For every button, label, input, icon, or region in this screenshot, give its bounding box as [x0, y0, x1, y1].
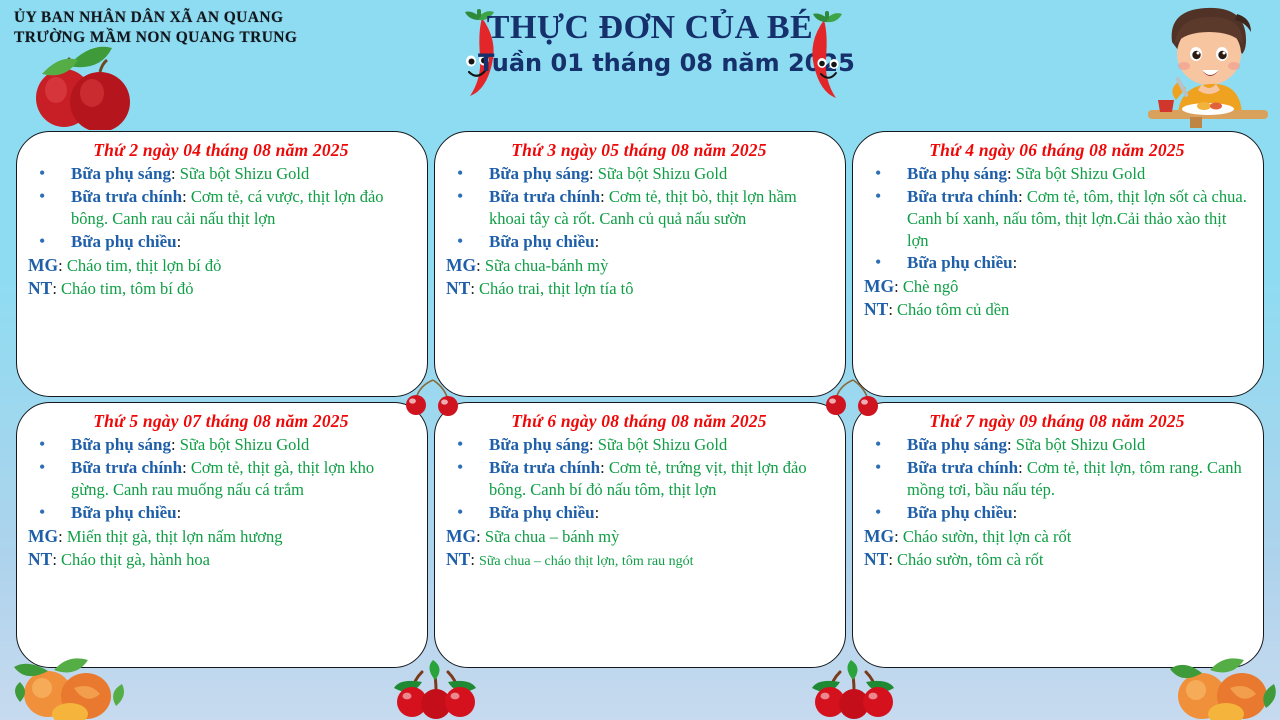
snack-value-mg: Miến thịt gà, thịt lợn nấm hương [67, 527, 283, 546]
day-card-monday[interactable]: Thứ 2 ngày 04 tháng 08 năm 2025 Bữa phụ … [16, 131, 428, 397]
meal-label-afternoon: Bữa phụ chiều [489, 232, 595, 251]
snack-value-mg: Cháo sườn, thịt lợn cà rốt [903, 527, 1071, 546]
snack-row-nt: NT: Cháo trai, thịt lợn tía tô [446, 277, 833, 300]
snack-row-nt: NT: Cháo sườn, tôm cà rốt [864, 548, 1251, 571]
menu-grid: Thứ 2 ngày 04 tháng 08 năm 2025 Bữa phụ … [16, 131, 1264, 668]
meal-afternoon: Bữa phụ chiều: [451, 502, 833, 524]
snack-key-mg: MG [446, 255, 476, 275]
snack-key-mg: MG [864, 526, 894, 546]
day-card-thursday[interactable]: Thứ 5 ngày 07 tháng 08 năm 2025 Bữa phụ … [16, 402, 428, 668]
snack-row-mg: MG: Cháo sườn, thịt lợn cà rốt [864, 525, 1251, 548]
snack-value-nt: Cháo tim, tôm bí đỏ [61, 279, 193, 298]
meal-value-breakfast: Sữa bột Shizu Gold [180, 435, 310, 454]
snack-value-nt: Cháo tôm củ dền [897, 300, 1009, 319]
day-heading: Thứ 5 ngày 07 tháng 08 năm 2025 [27, 411, 415, 432]
meal-afternoon: Bữa phụ chiều: [451, 231, 833, 253]
snack-key-mg: MG [28, 255, 58, 275]
org-line-1: ỦY BAN NHÂN DÂN XÃ AN QUANG [14, 8, 297, 28]
meal-breakfast: Bữa phụ sáng: Sữa bột Shizu Gold [451, 434, 833, 456]
snack-row-mg: MG: Chè ngô [864, 275, 1251, 298]
meal-label-lunch: Bữa trưa chính [71, 187, 182, 206]
snack-row-mg: MG: Cháo tim, thịt lợn bí đỏ [28, 254, 415, 277]
snack-key-nt: NT [28, 549, 52, 569]
meal-label-afternoon: Bữa phụ chiều [489, 503, 595, 522]
day-card-wednesday[interactable]: Thứ 4 ngày 06 tháng 08 năm 2025 Bữa phụ … [852, 131, 1264, 397]
meal-label-breakfast: Bữa phụ sáng [71, 164, 171, 183]
meal-afternoon: Bữa phụ chiều: [33, 231, 415, 253]
snack-key-nt: NT [864, 299, 888, 319]
meal-list: Bữa phụ sáng: Sữa bột Shizu Gold Bữa trư… [33, 163, 415, 253]
meal-label-breakfast: Bữa phụ sáng [489, 435, 589, 454]
meal-label-lunch: Bữa trưa chính [489, 458, 600, 477]
meal-label-lunch: Bữa trưa chính [907, 458, 1018, 477]
snack-rows: MG: Miến thịt gà, thịt lợn nấm hương NT:… [27, 525, 415, 571]
meal-value-breakfast: Sữa bột Shizu Gold [1016, 435, 1146, 454]
snack-rows: MG: Sữa chua – bánh mỳ NT: Sữa chua – ch… [445, 525, 833, 572]
snack-rows: MG: Sữa chua-bánh mỳ NT: Cháo trai, thịt… [445, 254, 833, 300]
snack-value-nt: Cháo trai, thịt lợn tía tô [479, 279, 633, 298]
meal-afternoon: Bữa phụ chiều: [33, 502, 415, 524]
meal-value-breakfast: Sữa bột Shizu Gold [1016, 164, 1146, 183]
day-card-tuesday[interactable]: Thứ 3 ngày 05 tháng 08 năm 2025 Bữa phụ … [434, 131, 846, 397]
page-title: THỰC ĐƠN CỦA BÉ [478, 10, 822, 46]
meal-label-afternoon: Bữa phụ chiều [907, 253, 1013, 272]
title-block: THỰC ĐƠN CỦA BÉ Tuần 01 tháng 08 năm 202… [478, 10, 822, 77]
snack-key-mg: MG [446, 526, 476, 546]
meal-breakfast: Bữa phụ sáng: Sữa bột Shizu Gold [33, 163, 415, 185]
snack-value-mg: Sữa chua – bánh mỳ [485, 527, 620, 546]
meal-value-breakfast: Sữa bột Shizu Gold [180, 164, 310, 183]
meal-list: Bữa phụ sáng: Sữa bột Shizu Gold Bữa trư… [33, 434, 415, 524]
snack-value-nt: Sữa chua – cháo thịt lợn, tôm rau ngót [479, 554, 693, 569]
meal-label-breakfast: Bữa phụ sáng [489, 164, 589, 183]
meal-lunch: Bữa trưa chính: Cơm tẻ, thịt lợn, tôm ra… [869, 457, 1251, 501]
meal-label-lunch: Bữa trưa chính [71, 458, 182, 477]
day-heading: Thứ 7 ngày 09 tháng 08 năm 2025 [863, 411, 1251, 432]
meal-label-afternoon: Bữa phụ chiều [907, 503, 1013, 522]
page-subtitle: Tuần 01 tháng 08 năm 2025 [478, 49, 822, 78]
snack-value-mg: Sữa chua-bánh mỳ [485, 256, 609, 275]
snack-value-mg: Cháo tim, thịt lợn bí đỏ [67, 256, 221, 275]
day-heading: Thứ 3 ngày 05 tháng 08 năm 2025 [445, 140, 833, 161]
day-card-saturday[interactable]: Thứ 7 ngày 09 tháng 08 năm 2025 Bữa phụ … [852, 402, 1264, 668]
meal-list: Bữa phụ sáng: Sữa bột Shizu Gold Bữa trư… [451, 434, 833, 524]
meal-label-afternoon: Bữa phụ chiều [71, 503, 177, 522]
meal-list: Bữa phụ sáng: Sữa bột Shizu Gold Bữa trư… [869, 163, 1251, 274]
snack-key-nt: NT [28, 278, 52, 298]
meal-list: Bữa phụ sáng: Sữa bột Shizu Gold Bữa trư… [869, 434, 1251, 524]
day-heading: Thứ 2 ngày 04 tháng 08 năm 2025 [27, 140, 415, 161]
meal-afternoon: Bữa phụ chiều: [869, 252, 1251, 274]
meal-lunch: Bữa trưa chính: Cơm tẻ, tôm, thịt lợn số… [869, 186, 1251, 251]
snack-value-mg: Chè ngô [903, 277, 958, 296]
meal-list: Bữa phụ sáng: Sữa bột Shizu Gold Bữa trư… [451, 163, 833, 253]
meal-lunch: Bữa trưa chính: Cơm tẻ, thịt gà, thịt lợ… [33, 457, 415, 501]
meal-label-lunch: Bữa trưa chính [907, 187, 1018, 206]
day-heading: Thứ 4 ngày 06 tháng 08 năm 2025 [863, 140, 1251, 161]
day-card-friday[interactable]: Thứ 6 ngày 08 tháng 08 năm 2025 Bữa phụ … [434, 402, 846, 668]
snack-row-mg: MG: Miến thịt gà, thịt lợn nấm hương [28, 525, 415, 548]
snack-row-nt: NT: Cháo thịt gà, hành hoa [28, 548, 415, 571]
snack-rows: MG: Chè ngô NT: Cháo tôm củ dền [863, 275, 1251, 321]
snack-key-nt: NT [864, 549, 888, 569]
snack-key-nt: NT [446, 549, 470, 569]
snack-row-mg: MG: Sữa chua – bánh mỳ [446, 525, 833, 548]
snack-rows: MG: Cháo sườn, thịt lợn cà rốt NT: Cháo … [863, 525, 1251, 571]
boy-eating-illustration [1142, 2, 1274, 128]
meal-breakfast: Bữa phụ sáng: Sữa bột Shizu Gold [33, 434, 415, 456]
meal-breakfast: Bữa phụ sáng: Sữa bột Shizu Gold [451, 163, 833, 185]
org-line-2: TRƯỜNG MẦM NON QUANG TRUNG [14, 28, 297, 48]
day-heading: Thứ 6 ngày 08 tháng 08 năm 2025 [445, 411, 833, 432]
meal-value-breakfast: Sữa bột Shizu Gold [598, 164, 728, 183]
snack-key-mg: MG [28, 526, 58, 546]
organization-block: ỦY BAN NHÂN DÂN XÃ AN QUANG TRƯỜNG MẦM N… [14, 8, 297, 49]
meal-lunch: Bữa trưa chính: Cơm tẻ, trứng vịt, thịt … [451, 457, 833, 501]
meal-lunch: Bữa trưa chính: Cơm tẻ, cá vược, thịt lợ… [33, 186, 415, 230]
snack-row-nt: NT: Cháo tim, tôm bí đỏ [28, 277, 415, 300]
apples-illustration [18, 44, 146, 130]
snack-row-nt: NT: Cháo tôm củ dền [864, 298, 1251, 321]
snack-row-nt: NT: Sữa chua – cháo thịt lợn, tôm rau ng… [446, 548, 833, 571]
snack-value-nt: Cháo sườn, tôm cà rốt [897, 550, 1043, 569]
meal-label-breakfast: Bữa phụ sáng [907, 435, 1007, 454]
meal-label-lunch: Bữa trưa chính [489, 187, 600, 206]
snack-row-mg: MG: Sữa chua-bánh mỳ [446, 254, 833, 277]
snack-rows: MG: Cháo tim, thịt lợn bí đỏ NT: Cháo ti… [27, 254, 415, 300]
meal-breakfast: Bữa phụ sáng: Sữa bột Shizu Gold [869, 163, 1251, 185]
page-header: ỦY BAN NHÂN DÂN XÃ AN QUANG TRƯỜNG MẦM N… [0, 0, 1280, 128]
snack-value-nt: Cháo thịt gà, hành hoa [61, 550, 210, 569]
meal-lunch: Bữa trưa chính: Cơm tẻ, thịt bò, thịt lợ… [451, 186, 833, 230]
meal-afternoon: Bữa phụ chiều: [869, 502, 1251, 524]
meal-label-breakfast: Bữa phụ sáng [71, 435, 171, 454]
meal-label-afternoon: Bữa phụ chiều [71, 232, 177, 251]
meal-breakfast: Bữa phụ sáng: Sữa bột Shizu Gold [869, 434, 1251, 456]
meal-value-breakfast: Sữa bột Shizu Gold [598, 435, 728, 454]
snack-key-mg: MG [864, 276, 894, 296]
meal-label-breakfast: Bữa phụ sáng [907, 164, 1007, 183]
snack-key-nt: NT [446, 278, 470, 298]
